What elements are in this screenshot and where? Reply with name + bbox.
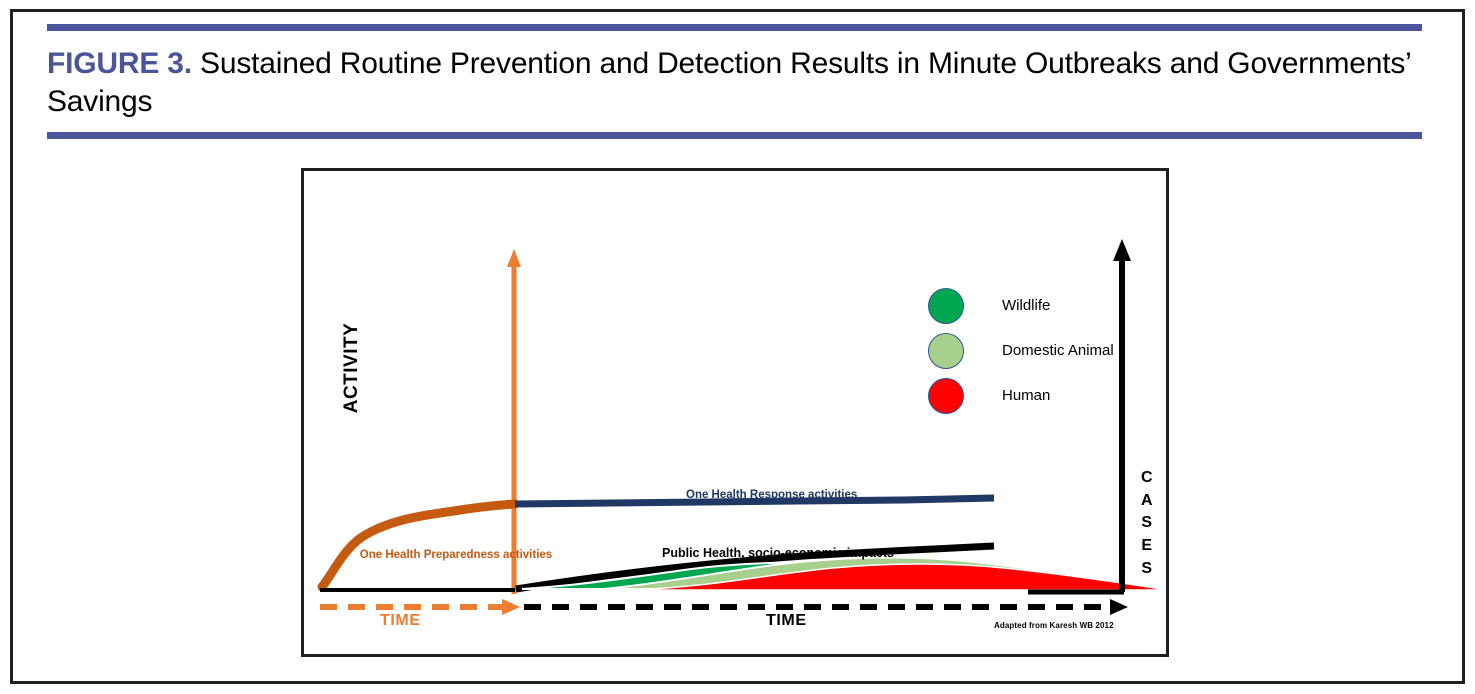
figure-number: FIGURE 3. <box>47 47 192 80</box>
legend-item-domestic-animal[interactable]: Domestic Animal <box>928 328 1143 373</box>
legend-item-wildlife[interactable]: Wildlife <box>928 283 1143 328</box>
header-rule-top <box>47 24 1422 31</box>
annotation-response-activities: One Health Response activities <box>686 489 857 501</box>
y-axis-label-activity: ACTIVITY <box>341 298 363 438</box>
annotation-public-health-impacts: Public Health, socio-economic impacts <box>662 546 894 560</box>
header-rule-bottom <box>47 132 1422 139</box>
activity-axis <box>507 249 521 594</box>
human-swatch-icon <box>928 378 964 414</box>
chart-legend: Wildlife Domestic Animal Human <box>928 283 1143 418</box>
legend-label-human: Human <box>1002 387 1050 404</box>
time-axis-black <box>524 599 1128 615</box>
page-title: FIGURE 3. Sustained Routine Prevention a… <box>47 45 1422 122</box>
wildlife-swatch-icon <box>928 288 964 324</box>
preparedness-curve <box>322 504 515 587</box>
x-axis-label-time-right: TIME <box>766 612 807 630</box>
annotation-preparedness-activities: One Health Preparedness activities <box>356 548 556 564</box>
domestic-animal-swatch-icon <box>928 333 964 369</box>
x-axis-label-time-left: TIME <box>380 612 421 630</box>
chart-container: Wildlife Domestic Animal Human ACTIVITY … <box>301 168 1169 657</box>
figure-title-text: Sustained Routine Prevention and Detecti… <box>47 47 1411 118</box>
figure-header: FIGURE 3. Sustained Routine Prevention a… <box>47 24 1422 139</box>
legend-label-wildlife: Wildlife <box>1002 297 1050 314</box>
y2-axis-label-cases: CASES <box>1137 467 1157 581</box>
chart-source-credit: Adapted from Karesh WB 2012 <box>994 621 1114 630</box>
figure-page: FIGURE 3. Sustained Routine Prevention a… <box>0 0 1475 694</box>
legend-item-human[interactable]: Human <box>928 373 1143 418</box>
legend-label-domestic-animal: Domestic Animal <box>1002 342 1114 359</box>
